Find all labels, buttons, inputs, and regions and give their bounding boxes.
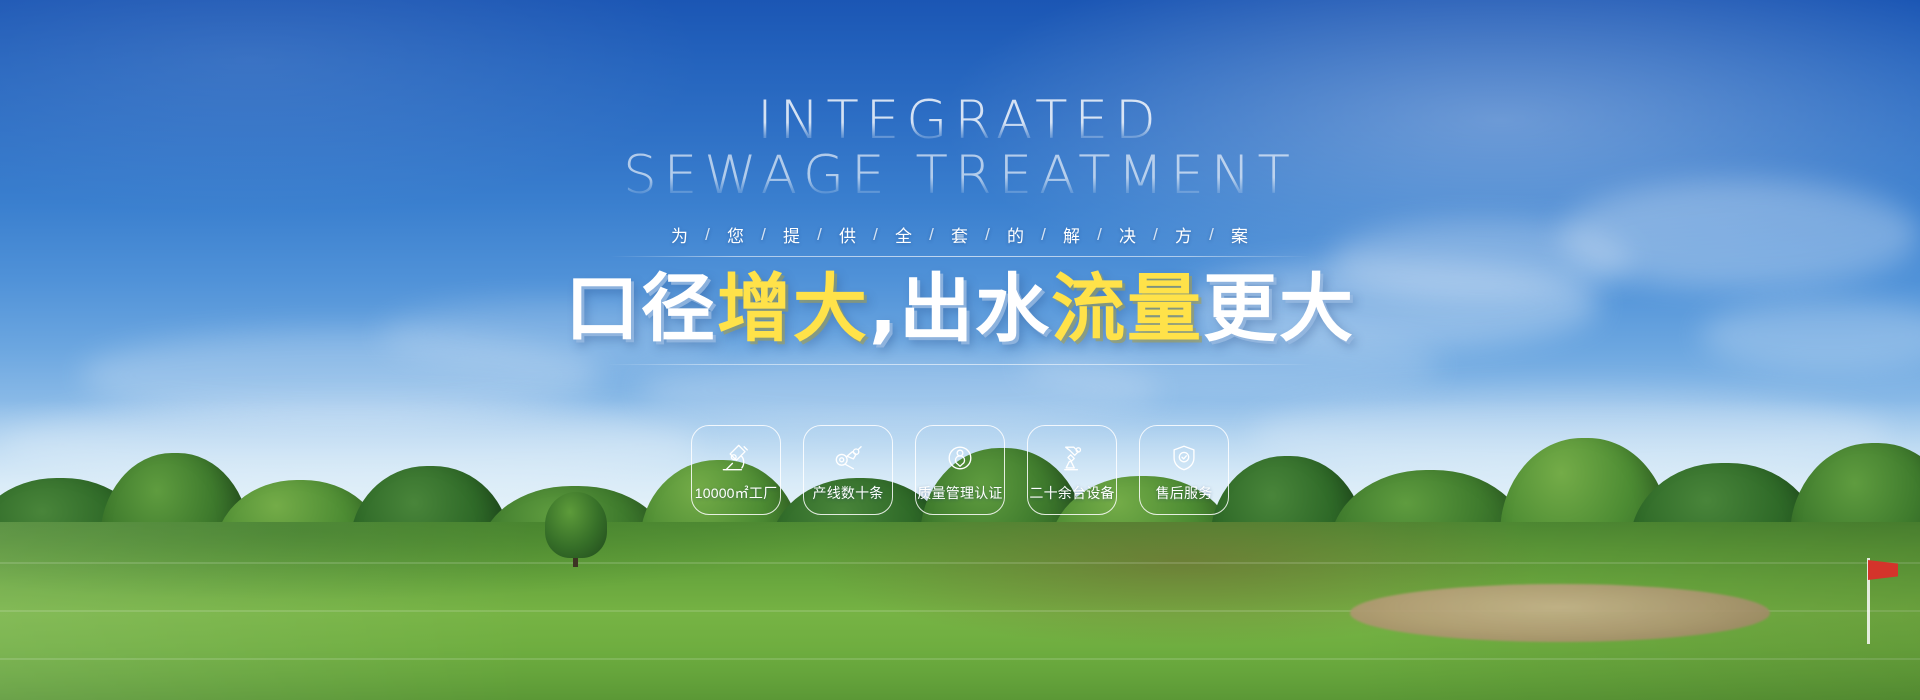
banner-content: INTEGRATED SEWAGE TREATMENT 为/您/提/供/全/套/… <box>0 0 1920 700</box>
subtitle-separator: / <box>863 225 889 245</box>
subtitle-block: 为/您/提/供/全/套/的/解/决/方/案 <box>0 222 1920 257</box>
subtitle-char: 套 <box>945 222 975 247</box>
subtitle-separator: / <box>1087 225 1113 245</box>
main-headline: 口径增大,出水流量更大 <box>565 270 1355 350</box>
main-headline-segment: 流量 <box>1051 266 1203 352</box>
subtitle-char: 的 <box>1001 222 1031 247</box>
feature-badge-5[interactable]: 售后服务 <box>1139 425 1229 515</box>
subtitle-separator: / <box>1143 225 1169 245</box>
feature-badge-2[interactable]: 产线数十条 <box>803 425 893 515</box>
machine-tool-icon <box>1052 438 1092 478</box>
subtitle-char: 案 <box>1225 222 1255 247</box>
main-headline-segment: 更大 <box>1203 266 1355 352</box>
english-headline-line2: SEWAGE TREATMENT <box>0 151 1920 202</box>
subtitle-separator: / <box>695 225 721 245</box>
subtitle-char: 全 <box>889 222 919 247</box>
subtitle-char: 供 <box>833 222 863 247</box>
main-headline-block: 口径增大,出水流量更大 <box>0 270 1920 365</box>
english-headline: INTEGRATED SEWAGE TREATMENT <box>0 96 1920 202</box>
main-headline-segment: , <box>869 266 899 352</box>
production-line-icon <box>828 438 868 478</box>
subtitle-separator: / <box>1199 225 1225 245</box>
subtitle-separator: / <box>807 225 833 245</box>
subtitle-separator: / <box>919 225 945 245</box>
subtitle-text: 为/您/提/供/全/套/的/解/决/方/案 <box>665 222 1255 247</box>
main-headline-divider <box>605 364 1315 365</box>
feature-badge-row: 10000㎡工厂产线数十条质量管理认证二十余台设备售后服务 <box>0 425 1920 515</box>
certificate-person-icon <box>940 438 980 478</box>
main-headline-segment: 出水 <box>899 266 1051 352</box>
shield-check-icon <box>1164 438 1204 478</box>
subtitle-char: 您 <box>721 222 751 247</box>
main-headline-segment: 口径 <box>565 266 717 352</box>
subtitle-divider <box>610 256 1310 257</box>
subtitle-char: 解 <box>1057 222 1087 247</box>
microscope-icon <box>716 438 756 478</box>
subtitle-char: 方 <box>1169 222 1199 247</box>
subtitle-char: 决 <box>1113 222 1143 247</box>
hero-banner: INTEGRATED SEWAGE TREATMENT 为/您/提/供/全/套/… <box>0 0 1920 700</box>
feature-badge-label: 售后服务 <box>1114 483 1254 503</box>
english-headline-line1: INTEGRATED <box>0 96 1920 147</box>
feature-badge-4[interactable]: 二十余台设备 <box>1027 425 1117 515</box>
subtitle-separator: / <box>751 225 777 245</box>
subtitle-char: 提 <box>777 222 807 247</box>
feature-badge-1[interactable]: 10000㎡工厂 <box>691 425 781 515</box>
subtitle-char: 为 <box>665 222 695 247</box>
subtitle-separator: / <box>1031 225 1057 245</box>
main-headline-segment: 增大 <box>717 266 869 352</box>
subtitle-separator: / <box>975 225 1001 245</box>
feature-badge-3[interactable]: 质量管理认证 <box>915 425 1005 515</box>
